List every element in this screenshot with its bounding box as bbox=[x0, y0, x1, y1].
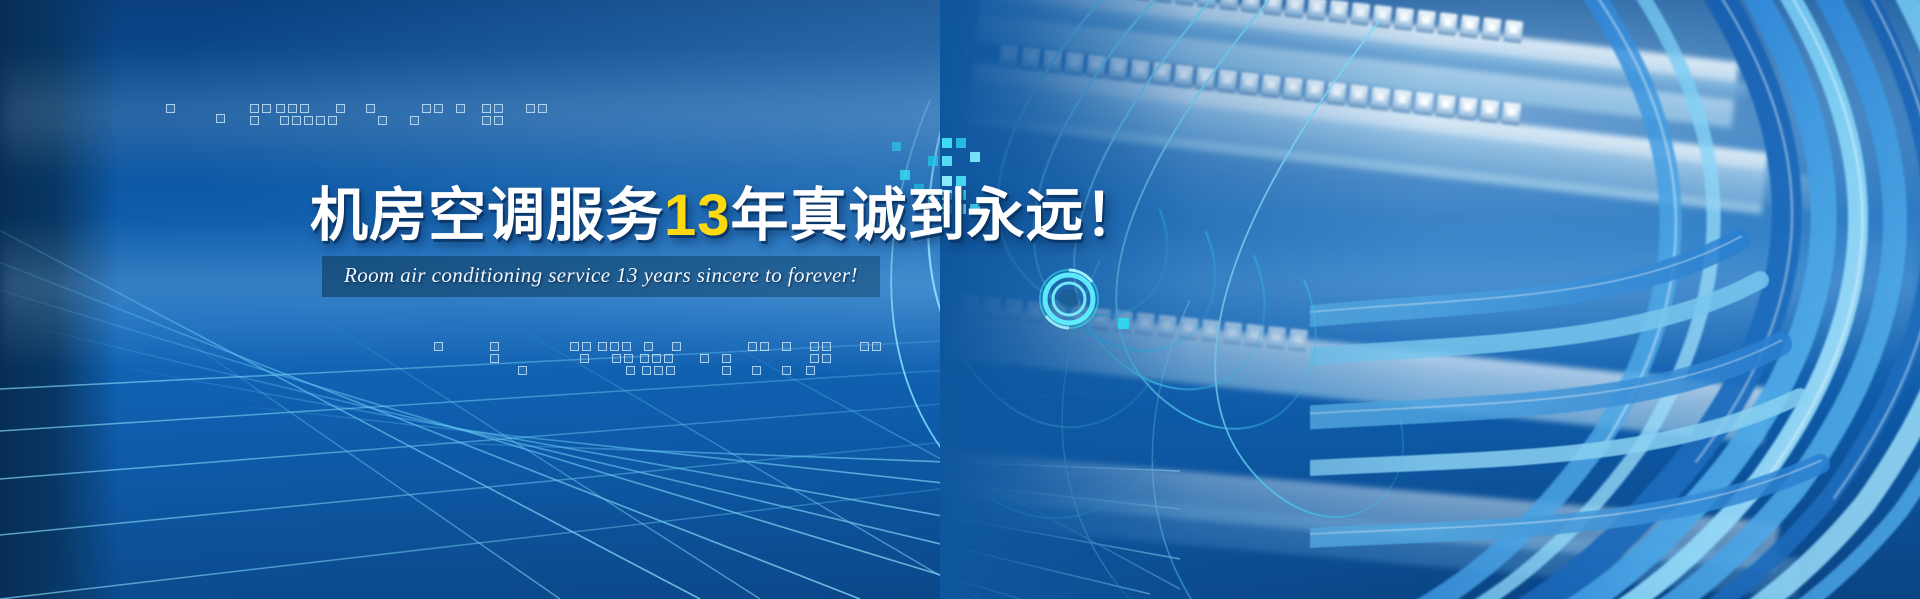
rj45-port bbox=[1130, 59, 1150, 83]
pixel-square-row-bottom bbox=[430, 338, 900, 386]
headline-prefix: 机房空调服务 bbox=[310, 183, 664, 248]
headline-suffix: 年真诚到永远！ bbox=[731, 183, 1144, 248]
subtitle-container: Room air conditioning service 13 years s… bbox=[322, 256, 880, 297]
page-title: 机房空调服务13年真诚到永远！ bbox=[310, 168, 1144, 252]
network-cable-bundle-foreground bbox=[1310, 120, 1920, 599]
rj45-port bbox=[1004, 298, 1024, 322]
promo-banner: 机房空调服务13年真诚到永远！ Room air conditioning se… bbox=[0, 0, 1920, 599]
rj45-port bbox=[960, 294, 980, 318]
rj45-port bbox=[1179, 317, 1199, 341]
rj45-port bbox=[1200, 319, 1220, 343]
rj45-port bbox=[1086, 54, 1106, 78]
headline-number: 13 bbox=[664, 183, 731, 248]
rj45-port bbox=[1173, 64, 1193, 88]
pixel-square-row-top bbox=[160, 100, 560, 136]
rj45-port bbox=[1108, 57, 1128, 81]
rj45-port bbox=[1151, 62, 1171, 86]
rj45-port bbox=[1195, 67, 1215, 91]
page-subtitle: Room air conditioning service 13 years s… bbox=[344, 263, 858, 288]
rj45-port bbox=[1064, 52, 1084, 76]
rj45-port bbox=[1020, 47, 1040, 71]
rj45-port bbox=[982, 296, 1002, 320]
rj45-port bbox=[1042, 49, 1062, 73]
glowing-hud-ring bbox=[1038, 268, 1100, 330]
rj45-port bbox=[1135, 312, 1155, 336]
cyan-pixel-stray bbox=[1118, 318, 1129, 329]
rj45-port bbox=[998, 44, 1018, 68]
rj45-port bbox=[1157, 315, 1177, 339]
